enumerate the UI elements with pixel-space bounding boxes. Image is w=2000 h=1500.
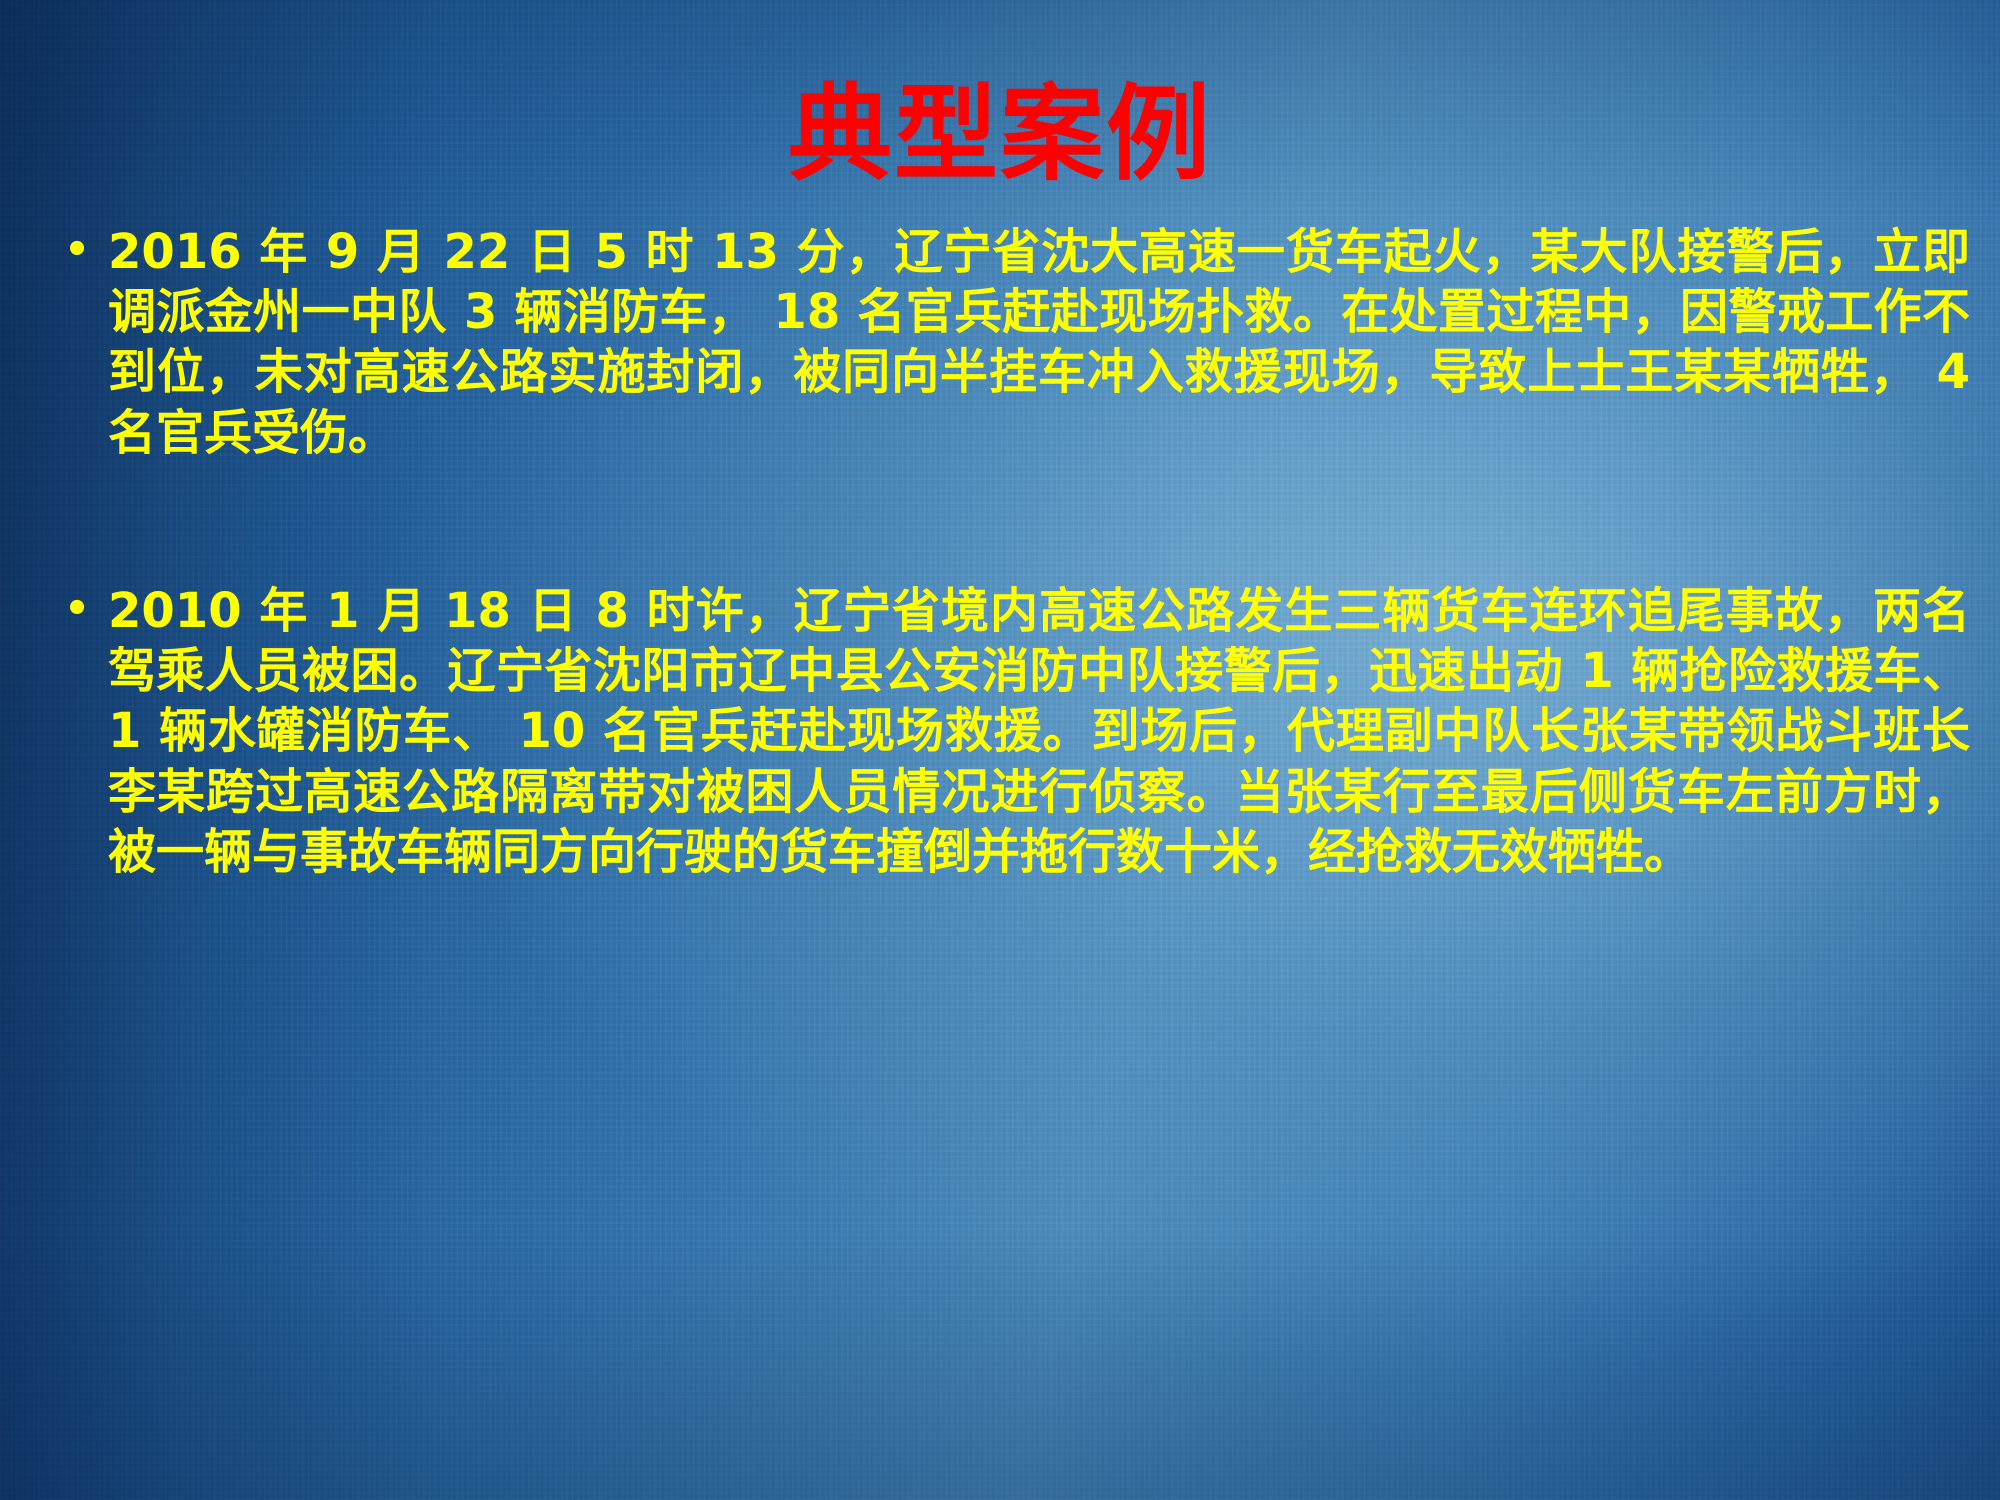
bullet-item: • 2010 年 1 月 18 日 8 时许，辽宁省境内高速公路发生三辆货车连环… [46, 581, 1970, 882]
presentation-slide: 典型案例 • 2016 年 9 月 22 日 5 时 13 分，辽宁省沈大高速一… [0, 0, 2000, 1500]
bullet-item-text: 2016 年 9 月 22 日 5 时 13 分，辽宁省沈大高速一货车起火，某大… [108, 222, 1970, 463]
slide-content: 典型案例 • 2016 年 9 月 22 日 5 时 13 分，辽宁省沈大高速一… [0, 0, 2000, 1500]
bullet-item-text: 2010 年 1 月 18 日 8 时许，辽宁省境内高速公路发生三辆货车连环追尾… [108, 581, 1970, 882]
bullet-point-icon: • [46, 581, 108, 639]
slide-body: • 2016 年 9 月 22 日 5 时 13 分，辽宁省沈大高速一货车起火，… [46, 222, 1970, 882]
bullet-point-icon: • [46, 222, 108, 280]
bullet-item: • 2016 年 9 月 22 日 5 时 13 分，辽宁省沈大高速一货车起火，… [46, 222, 1970, 463]
slide-title: 典型案例 [0, 78, 2000, 190]
